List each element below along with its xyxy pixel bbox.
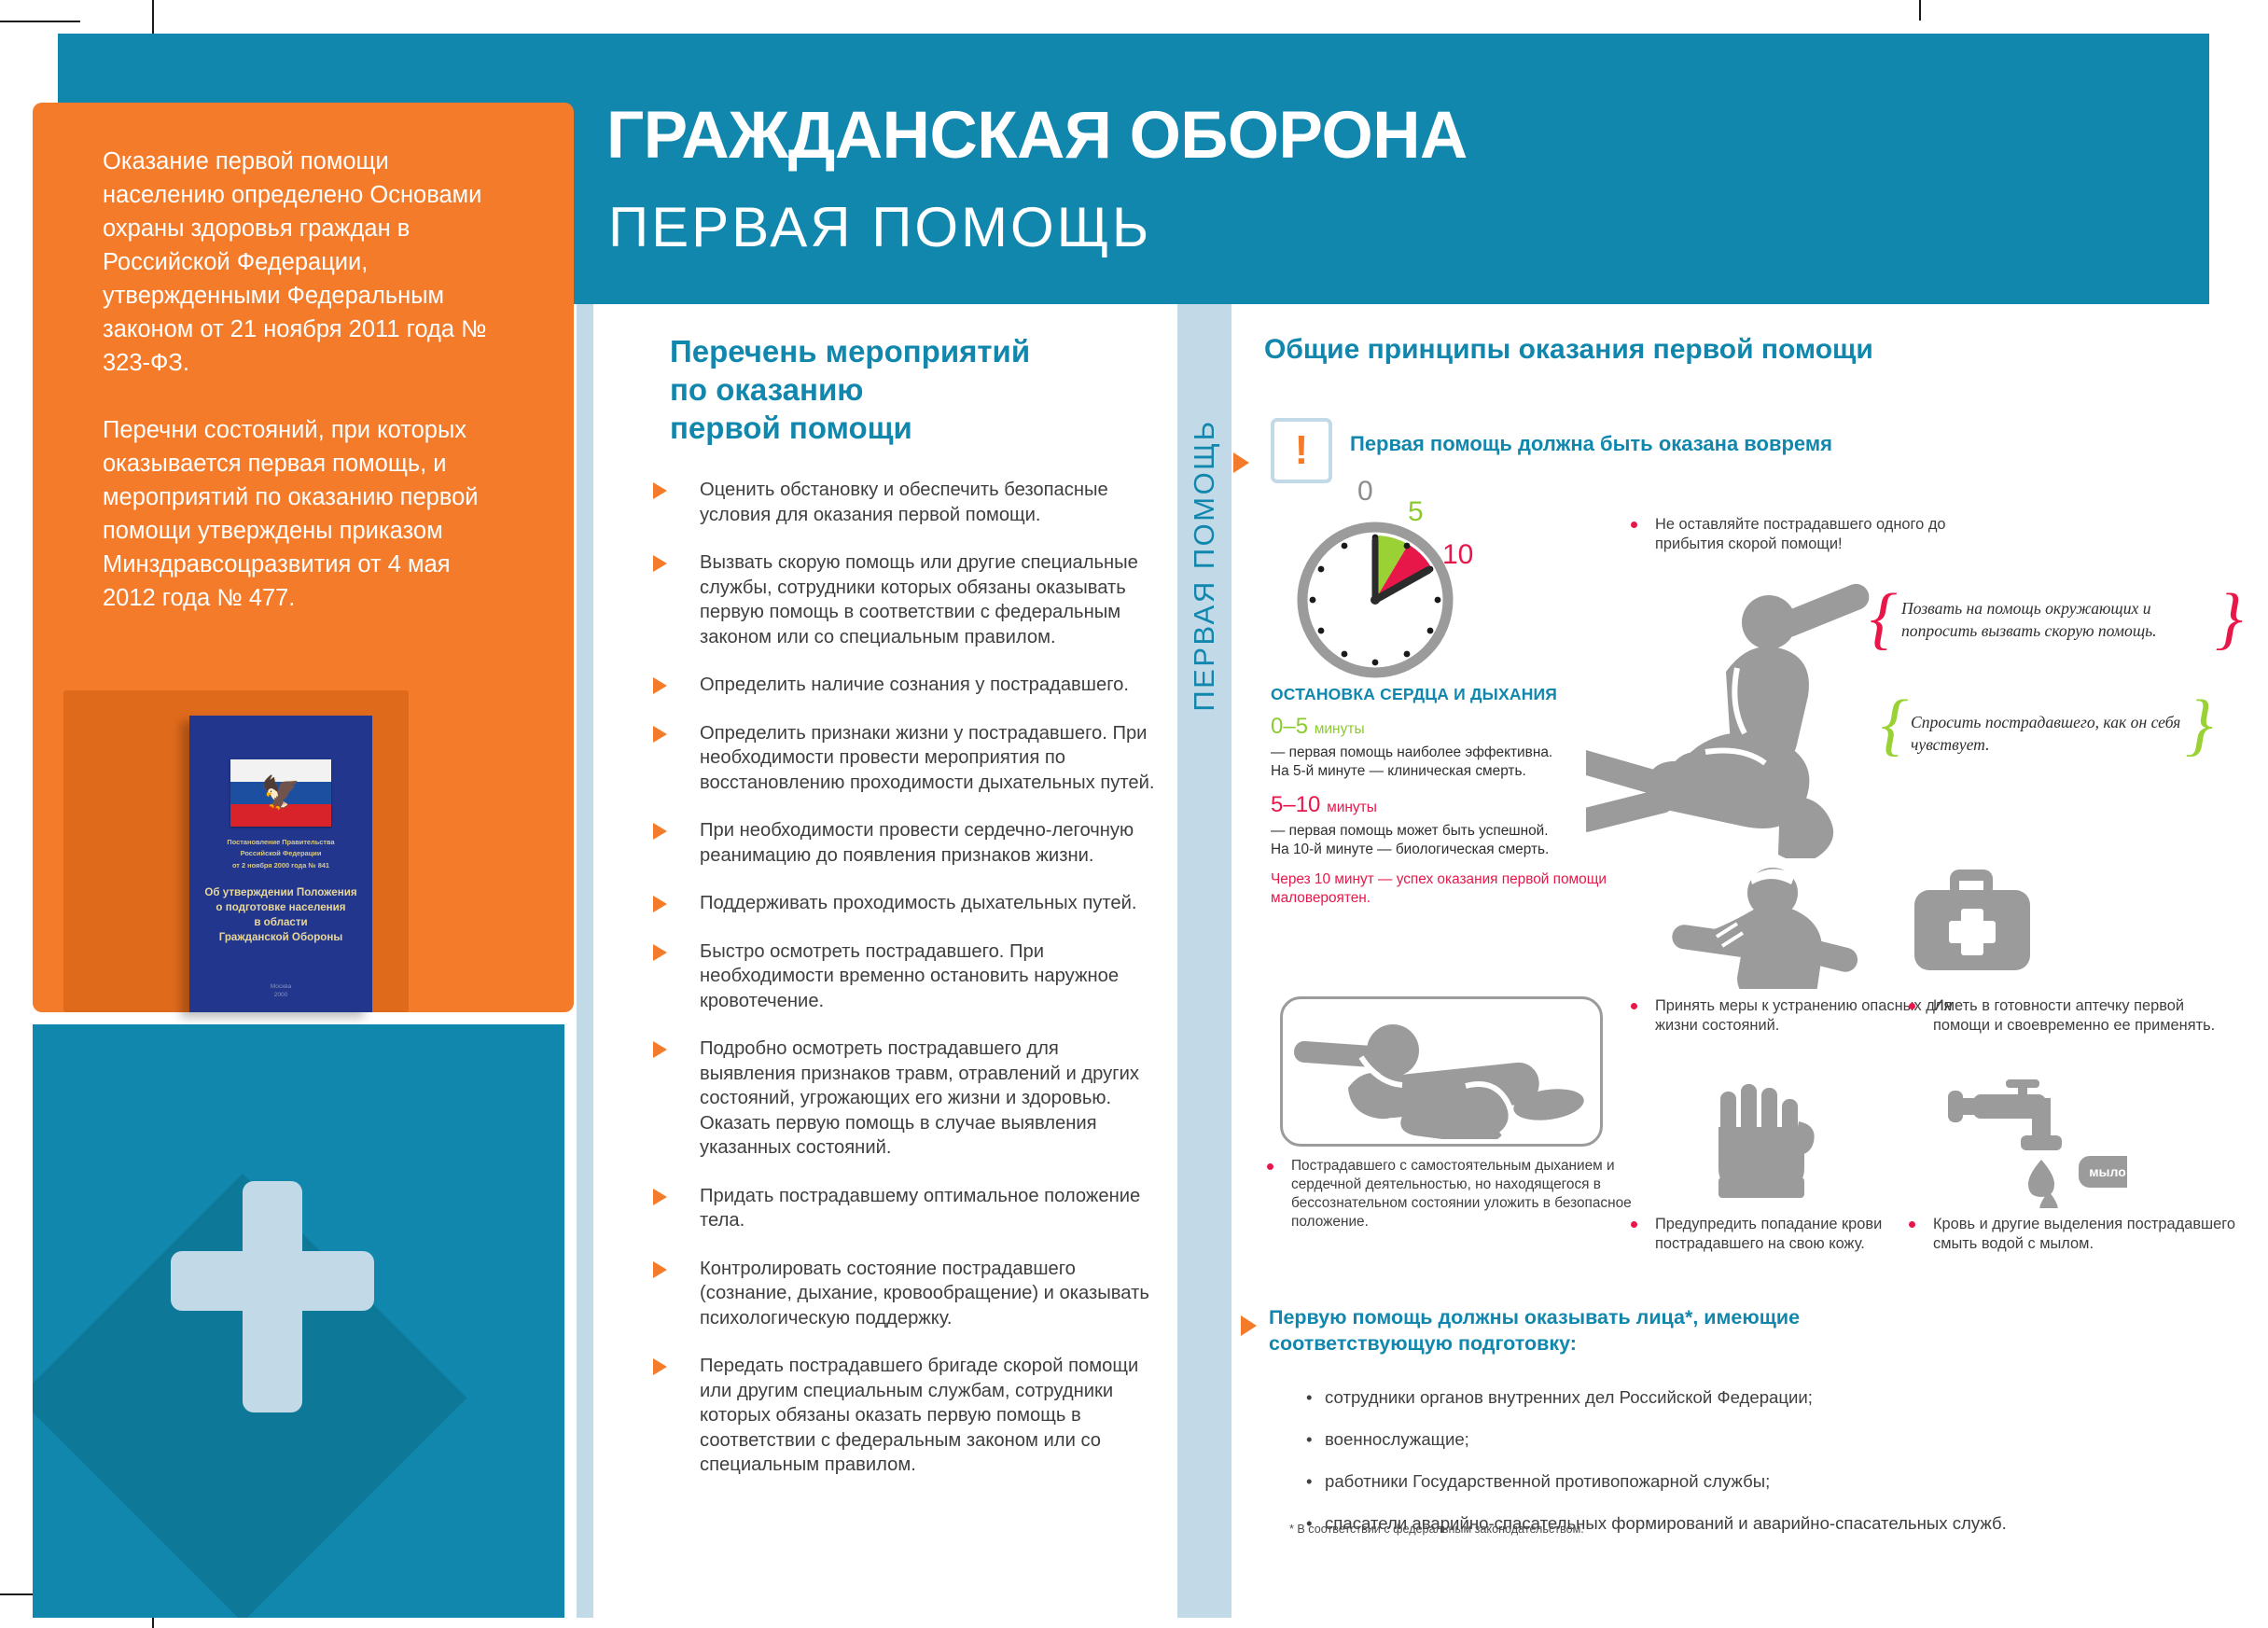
list-item: Подробно осмотреть пострадавшего для выя… [653, 1037, 1157, 1161]
triangle-bullet-icon [653, 482, 667, 499]
list-item: работники Государственной противопожарно… [1306, 1470, 2220, 1493]
book-title: Об утверждении Положения о подготовке на… [189, 885, 372, 945]
recovery-position-caption: Пострадавшего с самостоятельным дыханием… [1267, 1157, 1655, 1231]
triangle-bullet-icon [1233, 452, 1249, 473]
vertical-label-text: ПЕРВАЯ ПОМОЩЬ [1188, 419, 1221, 711]
triangle-bullet-icon [653, 1041, 667, 1058]
recovery-position-box [1280, 996, 1603, 1147]
list-item: Определить признаки жизни у пострадавшег… [653, 721, 1157, 796]
brace-left-icon: { [1870, 584, 1898, 653]
bullet-dot-icon [1631, 1003, 1637, 1009]
qualified-title: Первую помощь должны оказывать лица*, им… [1269, 1304, 1978, 1357]
list-item: военнослужащие; [1306, 1428, 2220, 1451]
poster-subtitle: ПЕРВАЯ ПОМОЩЬ [608, 198, 1151, 257]
brace-right-icon: } [2215, 584, 2243, 653]
note-wash-with-soap: Кровь и другие выделения пострадавшего с… [1909, 1215, 2241, 1254]
brace-note-red: { } Позвать на помощь окружающих и попро… [1901, 597, 2209, 642]
medical-cross-icon-vertical [243, 1181, 302, 1412]
list-item: Передать пострадавшего бригаде скорой по… [653, 1354, 1157, 1478]
crop-mark-tl-h [0, 21, 80, 22]
regulation-book-cover: 🦅 Постановление Правительства Российской… [189, 716, 372, 1012]
list-item: Оценить обстановку и обеспечить безопасн… [653, 478, 1157, 527]
alert-text: Первая помощь должна быть оказана воврем… [1350, 431, 2059, 457]
principles-title: Общие принципы оказания первой помощи [1264, 332, 2178, 368]
crop-mark-tr-v [1919, 0, 1921, 21]
recovery-position-icon [1283, 999, 1591, 1139]
triangle-bullet-icon [1241, 1315, 1257, 1336]
measures-list: Оценить обстановку и обеспечить безопасн… [653, 478, 1157, 1501]
triangle-bullet-icon [653, 896, 667, 912]
triangle-bullet-icon [653, 726, 667, 743]
list-item: Контролировать состояние пострадавшего (… [653, 1257, 1157, 1331]
bullet-dot-icon [1631, 522, 1637, 528]
list-item: Определить наличие сознания у пострадавш… [653, 673, 1157, 698]
brace-right-icon: } [2185, 690, 2213, 759]
poster-title-text: ГРАЖДАНСКАЯ ОБОРОНА [606, 99, 1468, 173]
triangle-bullet-icon [653, 1261, 667, 1278]
bullet-dot-icon [1267, 1163, 1273, 1170]
cardiac-warning: Через 10 минут — успех оказания первой п… [1271, 870, 1644, 908]
list-item: Придать пострадавшему оптимальное положе… [653, 1184, 1157, 1233]
triangle-bullet-icon [653, 823, 667, 840]
intro-paragraph-1: Оказание первой помощи населению определ… [103, 145, 494, 380]
bullet-dot-icon [1631, 1221, 1637, 1228]
coat-of-arms-icon: 🦅 [261, 777, 300, 809]
list-item: Быстро осмотреть пострадавшего. При необ… [653, 939, 1157, 1014]
bandaged-victim-icon [1670, 868, 1866, 989]
list-item: Поддерживать проходимость дыхательных пу… [653, 891, 1157, 916]
bullet-dot-icon [1909, 1003, 1915, 1009]
glove-icon [1698, 1082, 1838, 1204]
list-item: сотрудники органов внутренних дел Россий… [1306, 1386, 2220, 1409]
blue-decor-block [33, 1024, 564, 1618]
list-item: Вызвать скорую помощь или другие специал… [653, 550, 1157, 649]
intro-paragraph-2: Перечни состояний, при которых оказывает… [103, 413, 494, 615]
book-imprint: Москва 2000 [189, 982, 372, 999]
clock-face-icon [1293, 518, 1480, 704]
exclamation-icon: ! [1295, 430, 1309, 471]
russian-flag-icon: 🦅 [230, 759, 331, 827]
qualified-footnote: * В соответствии с федеральным законодат… [1289, 1523, 1584, 1536]
list-item: При необходимости провести сердечно-лего… [653, 818, 1157, 868]
timing-clock: 0 5 10 [1286, 478, 1556, 702]
brace-note-green: { } Спросить пострадавшего, как он себя … [1911, 711, 2181, 756]
bullet-dot-icon [1909, 1221, 1915, 1228]
triangle-bullet-icon [653, 1358, 667, 1375]
note-do-not-leave: Не оставляйте пострадавшего одного до пр… [1631, 515, 2010, 554]
soap-label: мыло [2089, 1164, 2126, 1179]
measures-accent-strip [577, 304, 593, 1618]
poster-subtitle-text: ПЕРВАЯ ПОМОЩЬ [608, 196, 1151, 258]
intro-card-text: Оказание первой помощи населению определ… [103, 145, 494, 615]
brace-left-icon: { [1881, 690, 1909, 759]
tap-with-soap-icon: мыло [1922, 1078, 2127, 1208]
measures-title: Перечень мероприятий по оказанию первой … [670, 332, 1155, 447]
triangle-bullet-icon [653, 555, 667, 572]
triangle-bullet-icon [653, 1189, 667, 1205]
triangle-bullet-icon [653, 944, 667, 961]
first-aid-kit-icon [1905, 868, 2045, 985]
vertical-label: ПЕРВАЯ ПОМОЩЬ [1177, 304, 1231, 827]
note-first-aid-kit: Иметь в готовности аптечку первой помощи… [1909, 996, 2241, 1036]
exclamation-badge: ! [1271, 418, 1332, 483]
book-subtitle: Постановление Правительства Российской Ф… [189, 837, 372, 871]
poster-title: ГРАЖДАНСКАЯ ОБОРОНА [606, 101, 1468, 172]
clock-label-0: 0 [1357, 478, 1373, 506]
triangle-bullet-icon [653, 677, 667, 694]
